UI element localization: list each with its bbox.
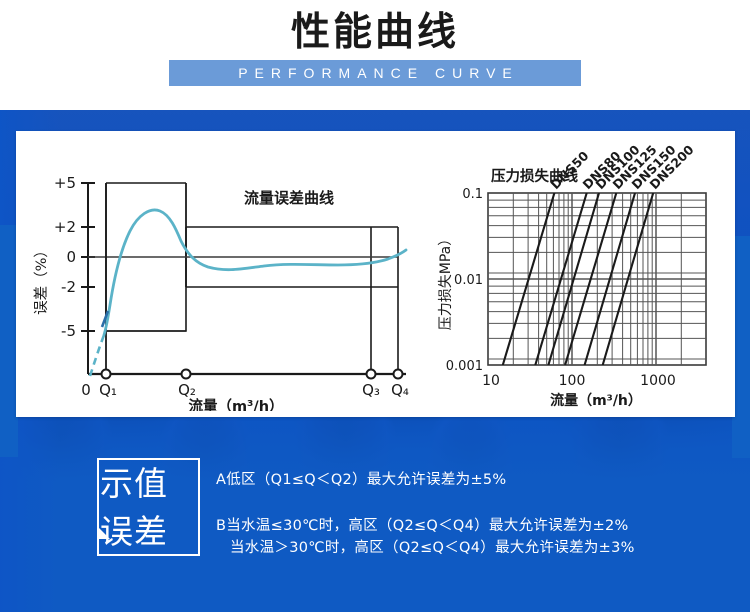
note-b1: B当水温≤30℃时，高区（Q2≤Q＜Q4）最大允许误差为±2% [216, 515, 736, 537]
flow-error-svg: +5 +2 0 -2 -5 误差（%） [26, 139, 436, 411]
y-tick-label-0p001: 0.001 [446, 359, 483, 374]
badge-line-1: 示值 [100, 460, 228, 508]
y-tick-label-m2: -2 [61, 278, 76, 296]
subtitle-text: PERFORMANCE CURVE [169, 60, 581, 86]
x-tick-label-q1: Q₁ [99, 381, 117, 399]
x-tick-label-q4: Q₄ [391, 381, 409, 399]
page-title: 性能曲线 [0, 10, 750, 56]
error-curve-group [90, 210, 406, 376]
subtitle-bar: PERFORMANCE CURVE [169, 60, 581, 86]
y-axis-title: 误差（%） [33, 243, 50, 315]
y-tick-label-0: 0 [66, 248, 76, 266]
chart-title-flow-error: 流量误差曲线 [244, 189, 334, 207]
x-tick-label-100: 100 [559, 373, 586, 389]
note-a: A低区（Q1≤Q＜Q2）最大允许误差为±5% [216, 470, 736, 490]
spec-notes: A低区（Q1≤Q＜Q2）最大允许误差为±5% B当水温≤30℃时，高区（Q2≤Q… [216, 470, 736, 559]
x-tick-label-0: 0 [81, 381, 91, 399]
x-axis-title: 流量（m³/h） [188, 397, 283, 411]
vertical-gridlines [513, 193, 681, 365]
pressure-loss-chart: 0.1 0.01 0.001 压力损失MPa） 10 100 1000 流量（m… [436, 139, 732, 411]
x-axis-title-pressure: 流量（m³/h） [550, 392, 642, 409]
error-curve-dashed-segment [90, 335, 104, 376]
flow-error-chart: +5 +2 0 -2 -5 误差（%） [26, 139, 436, 411]
y-tick-label-0p01: 0.01 [454, 273, 483, 288]
y-tick-label-p5: +5 [54, 174, 76, 192]
y-tick-label-p2: +2 [54, 218, 76, 236]
x-tick-label-q3: Q₃ [362, 381, 380, 399]
badge-line-2: 误差 [100, 508, 228, 556]
charts-panel: +5 +2 0 -2 -5 误差（%） [16, 131, 735, 417]
pressure-loss-svg: 0.1 0.01 0.001 压力损失MPa） 10 100 1000 流量（m… [436, 139, 732, 411]
note-b2: 当水温＞30℃时，高区（Q2≤Q＜Q4）最大允许误差为±3% [216, 537, 736, 559]
y-tick-label-0p1: 0.1 [462, 187, 483, 202]
x-tick-label-10: 10 [482, 373, 500, 389]
y-axis-title-pressure: 压力损失MPa） [438, 232, 454, 330]
page-header: 性能曲线 PERFORMANCE CURVE [0, 0, 750, 110]
y-tick-label-m5: -5 [61, 322, 76, 340]
badge-label: 示值 误差 [100, 460, 228, 556]
x-tick-label-1000: 1000 [640, 373, 676, 389]
x-tick-label-q2: Q₂ [178, 381, 196, 399]
error-curve-solid-segment [104, 210, 406, 335]
